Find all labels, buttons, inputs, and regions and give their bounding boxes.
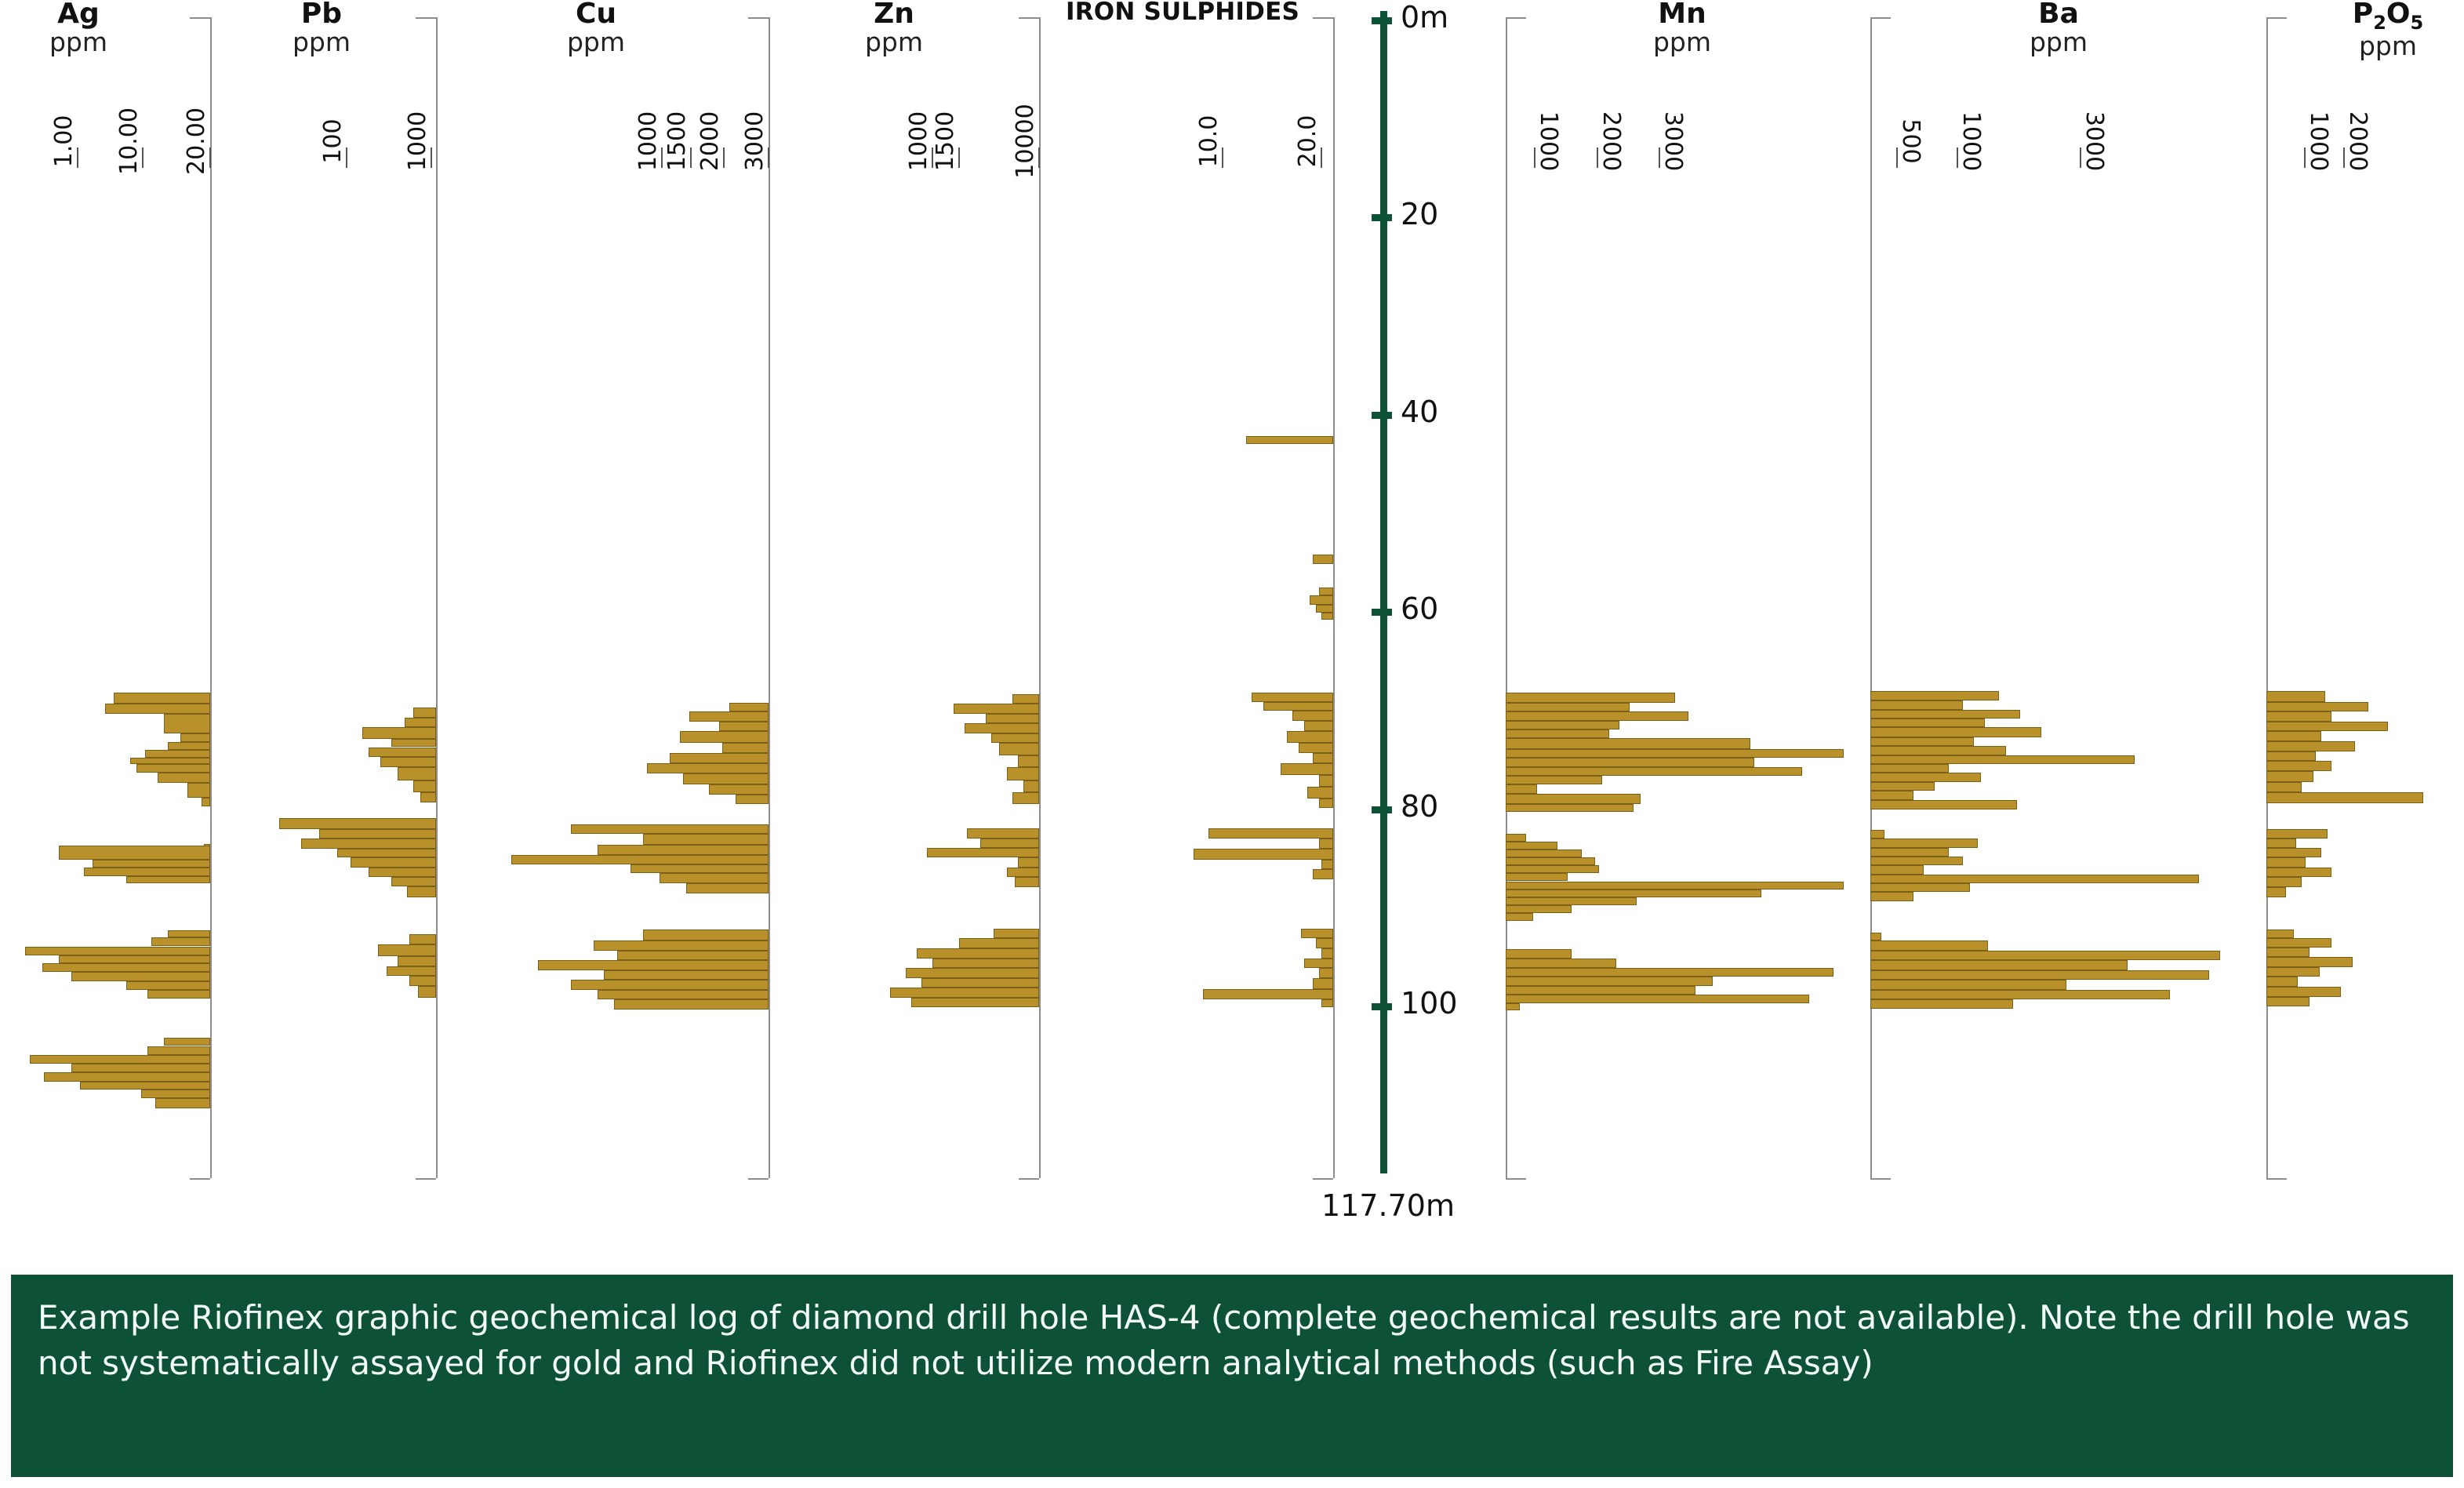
assay-bar: [1263, 702, 1333, 711]
assay-bar: [927, 848, 1039, 858]
track-p2o5: P2O5ppm10002000: [2266, 0, 2462, 1192]
axis-tick-mark: [2080, 147, 2081, 168]
track-unit-label: ppm: [761, 28, 1027, 57]
track-unit-label: ppm: [2255, 32, 2464, 61]
assay-bar: [1506, 842, 1557, 850]
assay-bar: [722, 743, 769, 753]
assay-bar: [187, 783, 210, 798]
assay-bar: [1301, 929, 1333, 939]
assay-bar: [2266, 741, 2355, 751]
assay-bar: [647, 763, 769, 774]
assay-bar: [1506, 977, 1713, 985]
track-ag: Agppm20.0010.001.00: [0, 0, 210, 1192]
assay-bar: [1506, 729, 1609, 738]
axis-tick-mark: [1896, 147, 1898, 168]
assay-bar: [571, 824, 769, 835]
assay-bar: [1299, 743, 1333, 753]
assay-bar: [155, 1098, 210, 1108]
axis-tick-label: 10.0: [1195, 115, 1223, 168]
assay-bar: [59, 955, 210, 963]
track-unit-label: ppm: [463, 28, 729, 57]
assay-bar: [1321, 613, 1333, 620]
assay-bar: [1307, 787, 1333, 799]
axis-tick-mark: [1659, 147, 1660, 168]
assay-bar: [689, 711, 769, 722]
assay-bar: [1313, 869, 1333, 879]
axis-tick-mark: [431, 147, 432, 168]
depth-tick-mark: [1372, 214, 1392, 221]
axis-tick-label: 100: [319, 118, 347, 163]
assay-bar: [420, 792, 436, 802]
track-axis-cap-bottom: [416, 1178, 436, 1180]
axis-tick-mark: [346, 147, 347, 168]
depth-tick-label: 20: [1401, 197, 1438, 231]
assay-bar: [1506, 873, 1568, 881]
track-axis-line: [436, 17, 438, 1178]
assay-bar: [1018, 755, 1039, 767]
track-axis-cap-bottom: [190, 1178, 210, 1180]
assay-bar: [1870, 700, 1963, 709]
axis-tick-mark: [1321, 147, 1322, 168]
assay-bar: [136, 764, 210, 773]
assay-bar: [1018, 857, 1039, 868]
assay-bar: [30, 1055, 210, 1064]
assay-bar: [1506, 804, 1634, 812]
assay-bar: [2266, 930, 2294, 938]
track-axis-cap-bottom: [1019, 1178, 1039, 1180]
axis-tick-mark: [1534, 147, 1535, 168]
assay-bar: [1506, 1003, 1520, 1010]
axis-tick-label: 1000: [1957, 111, 1985, 171]
assay-bar: [164, 1038, 210, 1046]
axis-tick-label: 1.00: [50, 115, 78, 168]
assay-bar: [1007, 868, 1039, 878]
track-header: Mnppm: [1549, 0, 1815, 57]
track-axis-cap-top: [416, 17, 436, 19]
assay-bar: [130, 758, 210, 764]
assay-bar: [71, 972, 210, 980]
axis-tick-label: 2000: [2344, 111, 2371, 171]
assay-bar: [1252, 693, 1333, 701]
assay-bar: [1321, 948, 1333, 959]
assay-bar: [1194, 849, 1333, 860]
assay-bar: [1870, 791, 1913, 801]
assay-bar: [986, 714, 1039, 724]
assay-bar: [1506, 897, 1637, 905]
assay-bar: [511, 855, 769, 865]
assay-bar: [1319, 839, 1334, 849]
assay-bar: [2266, 887, 2286, 897]
axis-tick-label: 3000: [1659, 111, 1687, 171]
assay-bar: [1506, 913, 1533, 921]
axis-tick-mark: [690, 147, 692, 168]
assay-bar: [1506, 959, 1616, 969]
assay-bar: [719, 722, 769, 732]
assay-bar: [114, 693, 210, 704]
assay-bar: [301, 839, 436, 849]
assay-bar: [686, 883, 769, 893]
track-header: P2O5ppm: [2255, 0, 2464, 61]
assay-bar: [387, 966, 436, 977]
assay-bar: [917, 948, 1039, 959]
track-header: Znppm: [761, 0, 1027, 57]
axis-tick-label: 1500: [932, 111, 959, 171]
axis-tick-label: 1000: [404, 111, 431, 171]
track-axis-line: [1333, 17, 1335, 1178]
track-unit-label: ppm: [188, 28, 455, 57]
assay-bar: [1870, 970, 2209, 980]
assay-bar: [571, 980, 769, 990]
axis-tick-mark: [768, 147, 769, 168]
assay-bar: [1313, 978, 1333, 989]
assay-bar: [2266, 857, 2306, 868]
assay-bar: [1870, 710, 2020, 719]
assay-bar: [71, 1064, 210, 1072]
assay-bar: [59, 846, 210, 860]
axis-tick-mark: [2304, 147, 2306, 168]
assay-bar: [1870, 875, 2199, 883]
depth-tick-mark: [1372, 609, 1392, 616]
assay-bar: [932, 959, 1039, 969]
assay-bar: [105, 704, 210, 714]
track-mn: Mnppm100020003000: [1506, 0, 1851, 1192]
assay-bar: [1870, 951, 2220, 961]
assay-bar: [1506, 776, 1602, 784]
track-header: IRON SULPHIDES: [1049, 0, 1316, 24]
assay-bar: [1304, 959, 1333, 969]
assay-bar: [2266, 751, 2316, 762]
assay-bar: [911, 998, 1039, 1008]
assay-bar: [1310, 595, 1333, 606]
depth-axis-line: [1380, 11, 1387, 1173]
assay-bar: [670, 753, 769, 763]
assay-bar: [1506, 986, 1695, 995]
assay-bar: [2266, 792, 2423, 803]
assay-bar: [369, 748, 436, 758]
assay-bar: [413, 780, 436, 792]
assay-bar: [1007, 767, 1039, 781]
assay-bar: [631, 864, 769, 873]
assay-bar: [921, 978, 1039, 988]
assay-bar: [736, 795, 769, 805]
axis-tick-label: 10000: [1012, 104, 1039, 178]
assay-bar: [2266, 957, 2353, 967]
assay-bar: [598, 845, 769, 855]
assay-bar: [959, 938, 1039, 948]
track-axis-cap-top: [2266, 17, 2287, 19]
assay-bar: [145, 750, 210, 758]
assay-bar: [1506, 834, 1526, 842]
track-axis-cap-bottom: [1313, 1178, 1333, 1180]
assay-bar: [2266, 691, 2325, 702]
assay-bar: [42, 963, 210, 972]
axis-tick-mark: [1038, 147, 1040, 168]
assay-bar: [1506, 784, 1537, 793]
axis-tick-label: 1000: [1535, 111, 1562, 171]
assay-bar: [391, 877, 436, 886]
track-axis-cap-bottom: [2266, 1178, 2287, 1180]
assay-bar: [999, 743, 1039, 755]
track-element-label: Ba: [1925, 0, 2192, 28]
assay-bar: [398, 767, 436, 781]
assay-bar: [1012, 694, 1039, 704]
assay-bar: [398, 956, 436, 966]
depth-tick-mark: [1372, 412, 1392, 419]
assay-bar: [604, 970, 769, 980]
track-unit-label: ppm: [0, 28, 212, 57]
assay-bar: [1313, 753, 1333, 763]
axis-tick-label: 20.0: [1294, 115, 1321, 168]
assay-bar: [1870, 719, 1985, 727]
assay-bar: [1506, 749, 1844, 758]
depth-tick-label: 80: [1401, 789, 1438, 824]
assay-bar: [180, 733, 210, 742]
track-axis-cap-top: [1313, 17, 1333, 19]
depth-tick-label: 100: [1401, 986, 1458, 1020]
track-element-label: Ag: [0, 0, 212, 28]
assay-bar: [164, 714, 210, 733]
assay-bar: [44, 1072, 210, 1081]
track-element-label: IRON SULPHIDES: [1049, 0, 1316, 24]
assay-bar: [1321, 860, 1333, 870]
assay-bar: [1870, 940, 1988, 951]
assay-bar: [1506, 890, 1761, 897]
assay-bar: [2266, 967, 2320, 977]
axis-tick-label: 1500: [663, 111, 691, 171]
figure-caption: Example Riofinex graphic geochemical log…: [11, 1275, 2453, 1477]
assay-bar: [319, 829, 436, 839]
assay-bar: [1870, 800, 2017, 809]
track-header: Agppm: [0, 0, 212, 57]
axis-tick-label: 1000: [2305, 111, 2332, 171]
assay-bar: [147, 1046, 210, 1055]
assay-bar: [906, 968, 1039, 978]
assay-bar: [991, 733, 1039, 744]
assay-bar: [2266, 702, 2368, 712]
assay-bar: [1506, 865, 1599, 873]
assay-bar: [598, 990, 769, 1000]
axis-tick-label: 2000: [1597, 111, 1625, 171]
assay-bar: [93, 860, 210, 868]
assay-bar: [1870, 737, 1974, 746]
assay-bar: [643, 930, 769, 940]
assay-bar: [1870, 980, 2066, 990]
assay-bar: [1208, 828, 1333, 839]
assay-bar: [1246, 436, 1333, 444]
track-axis-cap-top: [1506, 17, 1526, 19]
assay-bar: [2266, 848, 2321, 858]
assay-bar: [1287, 731, 1333, 743]
track-iron-sulphides: IRON SULPHIDES20.010.0: [1043, 0, 1333, 1192]
axis-tick-label: 3000: [741, 111, 769, 171]
assay-bar: [1870, 865, 1924, 874]
assay-bar: [168, 930, 210, 937]
axis-tick-mark: [142, 147, 144, 168]
depth-tick-mark: [1372, 1003, 1392, 1010]
assay-bar: [680, 731, 769, 743]
assay-bar: [1870, 830, 1884, 839]
assay-bar: [2266, 938, 2331, 947]
assay-bar: [2266, 839, 2296, 847]
assay-bar: [1870, 848, 1949, 857]
depth-tick-label: 0m: [1401, 0, 1448, 35]
assay-bar: [1506, 721, 1619, 729]
assay-bar: [1203, 989, 1334, 1000]
assay-bar: [954, 704, 1039, 714]
track-unit-label: ppm: [1925, 28, 2192, 57]
assay-bar: [337, 849, 436, 857]
assay-bar: [405, 718, 436, 728]
track-axis-cap-bottom: [1506, 1178, 1526, 1180]
assay-bar: [683, 773, 769, 784]
assay-bar: [965, 723, 1039, 733]
track-header: Cuppm: [463, 0, 729, 57]
axis-tick-mark: [77, 147, 78, 168]
track-header: Pbppm: [188, 0, 455, 57]
axis-tick-label: 20.00: [183, 107, 210, 175]
axis-tick-mark: [932, 147, 933, 168]
assay-bar: [202, 798, 210, 806]
track-zn: Znppm1000015001000: [772, 0, 1039, 1192]
geochemical-log-figure: Agppm20.0010.001.00Pbppm1000100Cuppm3000…: [0, 0, 2464, 1488]
assay-bar: [1870, 933, 1881, 940]
axis-tick-label: 10.00: [115, 107, 143, 175]
assay-bar: [1316, 938, 1333, 948]
assay-bar: [1506, 758, 1754, 766]
depth-tick-label: 40: [1401, 395, 1438, 429]
assay-bar: [2266, 761, 2331, 771]
axis-tick-mark: [1957, 147, 1958, 168]
axis-tick-mark: [1597, 147, 1598, 168]
assay-bar: [538, 960, 769, 970]
assay-bar: [2266, 877, 2302, 887]
assay-bar: [1506, 968, 1833, 977]
axis-tick-label: 500: [1897, 118, 1924, 163]
assay-bar: [380, 757, 437, 767]
assay-bar: [1870, 773, 1981, 781]
assay-bar: [660, 873, 769, 883]
assay-bar: [1281, 763, 1333, 775]
assay-bar: [994, 929, 1039, 939]
assay-bar: [1506, 711, 1688, 720]
track-pb: Pbppm1000100: [212, 0, 436, 1192]
depth-tick-label: 60: [1401, 591, 1438, 626]
assay-bar: [413, 708, 436, 718]
assay-bar: [126, 981, 210, 990]
assay-bar: [80, 1082, 210, 1090]
assay-bar: [709, 784, 769, 795]
assay-bar: [890, 988, 1039, 998]
assay-bar: [362, 727, 436, 739]
assay-bar: [2266, 948, 2310, 958]
track-element-label: Zn: [761, 0, 1027, 28]
assay-bar: [2266, 829, 2328, 839]
assay-bar: [2266, 868, 2331, 878]
assay-bar: [1506, 703, 1630, 711]
axis-tick-mark: [1222, 147, 1223, 168]
assay-bar: [1870, 883, 1970, 892]
assay-bar: [279, 818, 436, 829]
assay-bar: [1506, 794, 1641, 805]
track-axis-cap-top: [1870, 17, 1891, 19]
assay-bar: [1023, 780, 1039, 792]
depth-tick-mark: [1372, 17, 1392, 24]
assay-bar: [1319, 799, 1334, 809]
assay-bar: [1506, 693, 1675, 703]
track-axis-line: [1039, 17, 1041, 1178]
assay-bar: [1870, 857, 1963, 865]
assay-bar: [2266, 997, 2310, 1007]
assay-bar: [594, 940, 769, 951]
assay-bar: [1304, 721, 1333, 732]
assay-bar: [1506, 882, 1844, 890]
assay-bar: [1870, 999, 2013, 1008]
track-header: Bappm: [1925, 0, 2192, 57]
assay-bar: [2266, 711, 2331, 722]
assay-bar: [1506, 767, 1802, 776]
assay-bar: [1012, 792, 1039, 804]
assay-bar: [2266, 782, 2302, 793]
track-unit-label: ppm: [1549, 28, 1815, 57]
axis-tick-label: 2000: [696, 111, 724, 171]
assay-bar: [967, 828, 1039, 839]
assay-bar: [351, 857, 436, 868]
assay-bar: [418, 986, 436, 998]
track-axis-cap-top: [1019, 17, 1039, 19]
assay-bar: [168, 742, 210, 750]
assay-bar: [147, 990, 210, 999]
axis-tick-mark: [2343, 147, 2345, 168]
assay-bar: [1870, 960, 2128, 970]
assay-bar: [158, 773, 210, 783]
track-ba: Bappm50010003000: [1870, 0, 2227, 1192]
assay-bar: [1316, 605, 1333, 613]
assay-bar: [1870, 764, 1949, 773]
assay-bar: [980, 839, 1039, 847]
track-cu: Cuppm3000200015001000: [439, 0, 769, 1192]
assay-bar: [1870, 691, 1999, 701]
assay-bar: [1870, 755, 2135, 764]
assay-bar: [1870, 782, 1935, 791]
assay-bar: [1870, 990, 2170, 1000]
assay-bar: [1319, 968, 1334, 978]
assay-bar: [2266, 977, 2298, 987]
assay-bar: [407, 886, 436, 897]
assay-bar: [1506, 850, 1582, 857]
assay-bar: [1319, 588, 1334, 595]
track-element-label: Pb: [188, 0, 455, 28]
assay-bar: [1506, 857, 1595, 865]
assay-bar: [617, 951, 769, 961]
assay-bar: [1870, 839, 1978, 847]
track-element-label: Mn: [1549, 0, 1815, 28]
track-element-label: P2O5: [2255, 0, 2464, 32]
assay-bar: [1870, 746, 2006, 755]
track-axis-line: [769, 17, 770, 1178]
assay-bar: [1313, 555, 1333, 563]
assay-bar: [2266, 987, 2341, 997]
track-axis-cap-bottom: [748, 1178, 769, 1180]
assay-bar: [1015, 877, 1039, 887]
assay-bar: [1506, 738, 1750, 749]
total-depth-label: 117.70m: [1321, 1188, 1455, 1223]
assay-bar: [409, 976, 436, 986]
assay-bar: [126, 876, 210, 883]
axis-tick-mark: [723, 147, 725, 168]
assay-bar: [369, 868, 436, 878]
axis-tick-label: 1000: [634, 111, 662, 171]
assay-bar: [84, 868, 210, 876]
